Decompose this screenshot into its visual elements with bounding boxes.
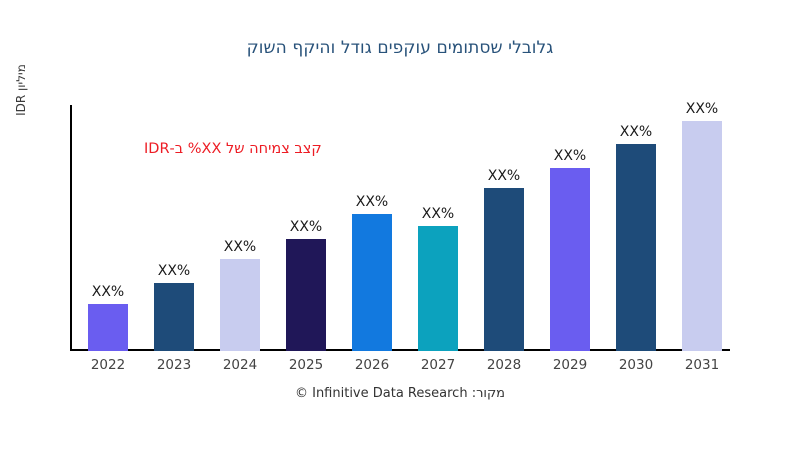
x-axis-tick-label: 2022 bbox=[75, 357, 141, 373]
x-axis-tick-label: 2031 bbox=[669, 357, 735, 373]
bar-chart: גלובלי שסתומים עוקפים גודל והיקף השוק מי… bbox=[0, 0, 800, 450]
bar-value-label: XX% bbox=[405, 206, 471, 222]
bar-2028[interactable] bbox=[484, 188, 524, 351]
bar-2030[interactable] bbox=[616, 144, 656, 351]
y-axis-label: מיליון IDR bbox=[14, 30, 34, 150]
bar-2023[interactable] bbox=[154, 283, 194, 351]
bar-2029[interactable] bbox=[550, 168, 590, 351]
x-axis-tick-label: 2030 bbox=[603, 357, 669, 373]
bar-group: XX%2025 bbox=[273, 105, 339, 351]
chart-title: גלובלי שסתומים עוקפים גודל והיקף השוק bbox=[0, 38, 800, 58]
bar-group: XX%2027 bbox=[405, 105, 471, 351]
bar-value-label: XX% bbox=[471, 168, 537, 184]
bar-2022[interactable] bbox=[88, 304, 128, 351]
x-axis-tick-label: 2029 bbox=[537, 357, 603, 373]
bar-value-label: XX% bbox=[603, 124, 669, 140]
bar-group: XX%2022 bbox=[75, 105, 141, 351]
x-axis-tick-label: 2028 bbox=[471, 357, 537, 373]
bar-group: XX%2026 bbox=[339, 105, 405, 351]
bar-2024[interactable] bbox=[220, 259, 260, 351]
bar-2031[interactable] bbox=[682, 121, 722, 351]
bar-value-label: XX% bbox=[273, 219, 339, 235]
bar-2025[interactable] bbox=[286, 239, 326, 351]
x-axis-tick-label: 2024 bbox=[207, 357, 273, 373]
chart-source-credit: מקור: Infinitive Data Research © bbox=[0, 386, 800, 401]
bar-group: XX%2030 bbox=[603, 105, 669, 351]
bar-group: XX%2023 bbox=[141, 105, 207, 351]
bar-value-label: XX% bbox=[141, 263, 207, 279]
bar-group: XX%2028 bbox=[471, 105, 537, 351]
bar-2026[interactable] bbox=[352, 214, 392, 351]
bars-container: XX%2022XX%2023XX%2024XX%2025XX%2026XX%20… bbox=[70, 105, 776, 351]
x-axis-tick-label: 2023 bbox=[141, 357, 207, 373]
x-axis-tick-label: 2026 bbox=[339, 357, 405, 373]
bar-value-label: XX% bbox=[207, 239, 273, 255]
bar-value-label: XX% bbox=[339, 194, 405, 210]
bar-value-label: XX% bbox=[669, 101, 735, 117]
bar-group: XX%2031 bbox=[669, 105, 735, 351]
bar-group: XX%2024 bbox=[207, 105, 273, 351]
x-axis-tick-label: 2025 bbox=[273, 357, 339, 373]
x-axis-tick-label: 2027 bbox=[405, 357, 471, 373]
bar-value-label: XX% bbox=[537, 148, 603, 164]
bar-value-label: XX% bbox=[75, 284, 141, 300]
bar-2027[interactable] bbox=[418, 226, 458, 351]
bar-group: XX%2029 bbox=[537, 105, 603, 351]
